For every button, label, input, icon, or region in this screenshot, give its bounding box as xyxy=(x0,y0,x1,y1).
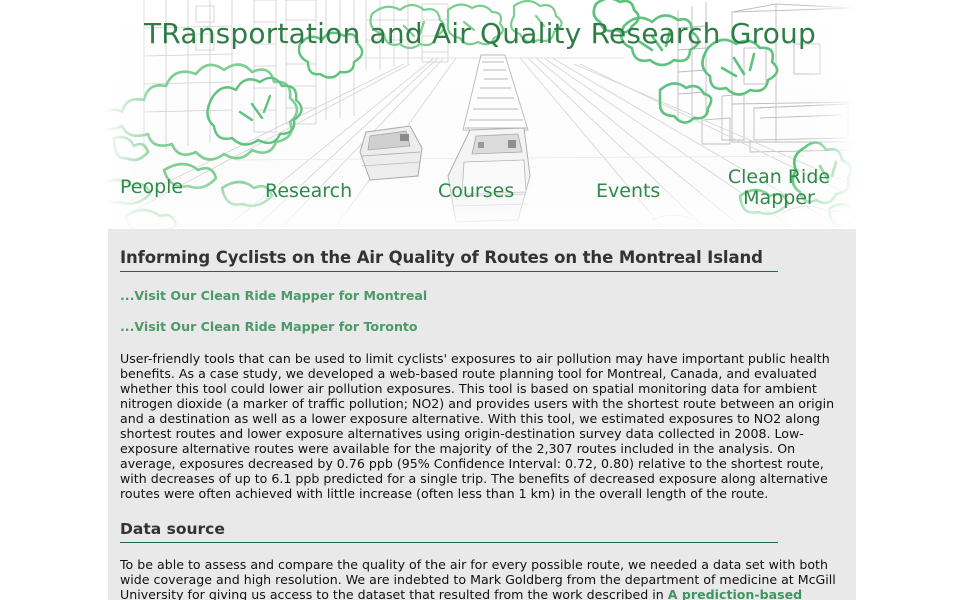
section-heading-data-source: Data source xyxy=(120,520,778,543)
nav-item-events[interactable]: Events xyxy=(596,181,660,202)
nav-item-clean-ride-mapper-line2: Mapper xyxy=(743,187,815,209)
nav-item-people[interactable]: People xyxy=(120,177,183,198)
data-source-paragraph: To be able to assess and compare the qua… xyxy=(120,557,836,600)
intro-paragraph: User-friendly tools that can be used to … xyxy=(120,351,836,501)
link-line-montreal: ...Visit Our Clean Ride Mapper for Montr… xyxy=(120,288,844,303)
page-title: Informing Cyclists on the Air Quality of… xyxy=(120,248,778,272)
nav-item-clean-ride-mapper-line1: Clean Ride xyxy=(728,166,830,188)
nav-item-clean-ride-mapper[interactable]: Clean Ride Mapper xyxy=(712,167,846,209)
site-banner: TRansportation and Air Quality Research … xyxy=(104,0,856,229)
link-line-toronto: ...Visit Our Clean Ride Mapper for Toron… xyxy=(120,319,844,334)
site-title: TRansportation and Air Quality Research … xyxy=(104,17,856,50)
main-navigation: People Research Courses Events Clean Rid… xyxy=(104,163,856,223)
page-root: TRansportation and Air Quality Research … xyxy=(0,0,960,600)
link-clean-ride-mapper-toronto[interactable]: ...Visit Our Clean Ride Mapper for Toron… xyxy=(120,319,418,334)
content-panel: Informing Cyclists on the Air Quality of… xyxy=(108,229,856,600)
link-clean-ride-mapper-montreal[interactable]: ...Visit Our Clean Ride Mapper for Montr… xyxy=(120,288,427,303)
nav-item-courses[interactable]: Courses xyxy=(438,181,514,202)
nav-item-research[interactable]: Research xyxy=(265,181,352,202)
